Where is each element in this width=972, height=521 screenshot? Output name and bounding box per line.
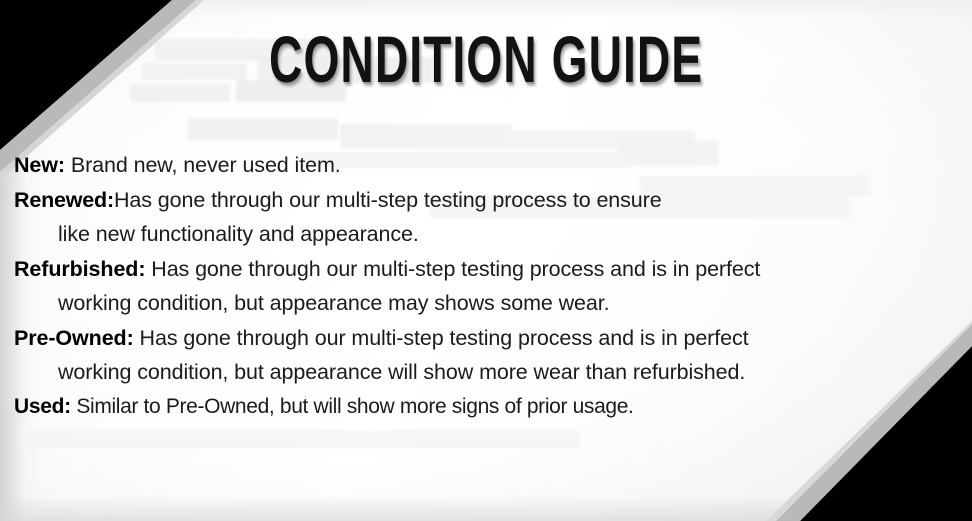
condition-description-used: Similar to Pre-Owned, but will show more… bbox=[71, 395, 634, 418]
condition-term-refurbished: Refurbished: bbox=[14, 257, 145, 281]
condition-entry-renewed: Renewed:Has gone through our multi-step … bbox=[14, 183, 956, 252]
condition-term-renewed: Renewed: bbox=[14, 188, 114, 212]
condition-term-new: New: bbox=[14, 153, 65, 177]
condition-entry-refurbished: Refurbished: Has gone through our multi-… bbox=[14, 252, 956, 321]
condition-guide-slide: CONDITION GUIDE New: Brand new, never us… bbox=[0, 0, 972, 521]
condition-definition-list: New: Brand new, never used item. Renewed… bbox=[14, 148, 956, 423]
condition-description-refurbished-line1: Has gone through our multi-step testing … bbox=[145, 257, 760, 281]
condition-entry-new: New: Brand new, never used item. bbox=[14, 148, 956, 183]
condition-description-new: Brand new, never used item. bbox=[65, 153, 341, 177]
condition-entry-used: Used: Similar to Pre-Owned, but will sho… bbox=[14, 391, 956, 423]
condition-description-renewed-line1: Has gone through our multi-step testing … bbox=[114, 188, 662, 212]
condition-term-used: Used: bbox=[14, 395, 71, 418]
condition-description-renewed-line2: like new functionality and appearance. bbox=[14, 217, 956, 252]
condition-term-pre-owned: Pre-Owned: bbox=[14, 326, 134, 350]
condition-description-pre-owned-line1: Has gone through our multi-step testing … bbox=[134, 326, 749, 350]
condition-description-pre-owned-line2: working condition, but appearance will s… bbox=[14, 355, 956, 390]
condition-description-refurbished-line2: working condition, but appearance may sh… bbox=[14, 286, 956, 321]
condition-entry-pre-owned: Pre-Owned: Has gone through our multi-st… bbox=[14, 321, 956, 390]
